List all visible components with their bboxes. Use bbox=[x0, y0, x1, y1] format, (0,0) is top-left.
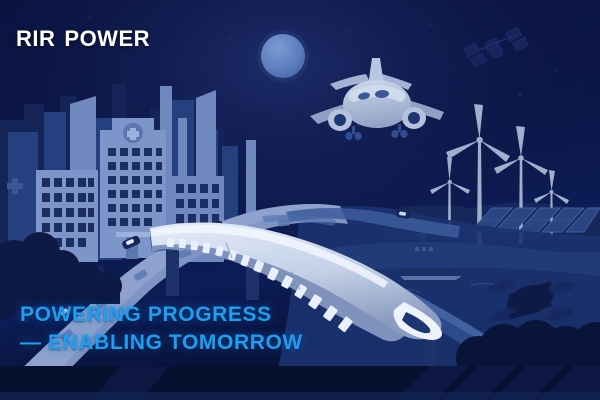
brand-logo-part2: POWER bbox=[64, 28, 150, 50]
foreground-band bbox=[0, 366, 600, 400]
brand-logo[interactable]: RIRPOWER bbox=[16, 28, 150, 50]
brand-logo-part1: RIR bbox=[16, 28, 55, 50]
banner-root: RIRPOWER POWERING PROGRESS — ENABLING TO… bbox=[0, 0, 600, 400]
tagline: POWERING PROGRESS — ENABLING TOMORROW bbox=[20, 301, 303, 356]
moon bbox=[257, 30, 309, 82]
